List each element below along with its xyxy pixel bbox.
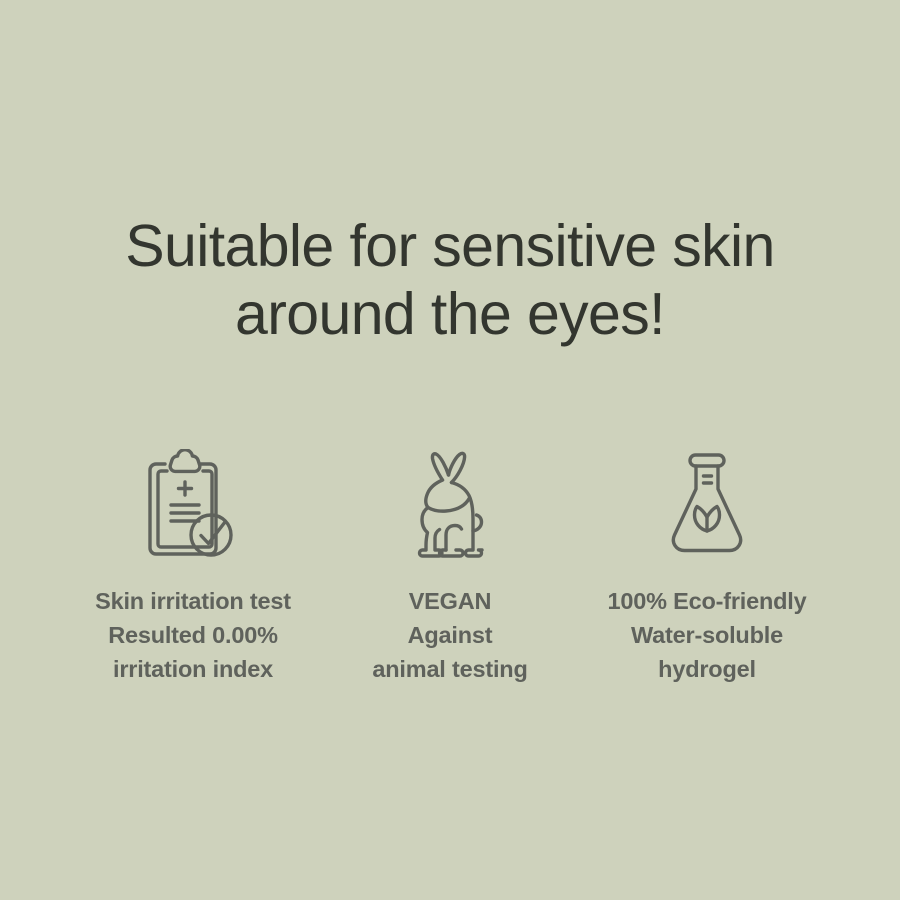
- rabbit-icon: [402, 448, 498, 566]
- feature-caption: Skin irritation test Resulted 0.00% irri…: [95, 584, 291, 686]
- feature-list: Skin irritation test Resulted 0.00% irri…: [0, 448, 900, 686]
- flask-leaf-icon: [659, 448, 755, 566]
- feature-item-vegan: VEGAN Against animal testing: [324, 448, 576, 686]
- page-title: Suitable for sensitive skin around the e…: [0, 212, 900, 348]
- feature-caption: VEGAN Against animal testing: [372, 584, 527, 686]
- promo-banner: Suitable for sensitive skin around the e…: [0, 0, 900, 900]
- clipboard-check-icon: [141, 448, 245, 566]
- feature-caption: 100% Eco-friendly Water-soluble hydrogel: [607, 584, 806, 686]
- feature-item-eco-friendly: 100% Eco-friendly Water-soluble hydrogel: [576, 448, 838, 686]
- feature-item-skin-irritation: Skin irritation test Resulted 0.00% irri…: [62, 448, 324, 686]
